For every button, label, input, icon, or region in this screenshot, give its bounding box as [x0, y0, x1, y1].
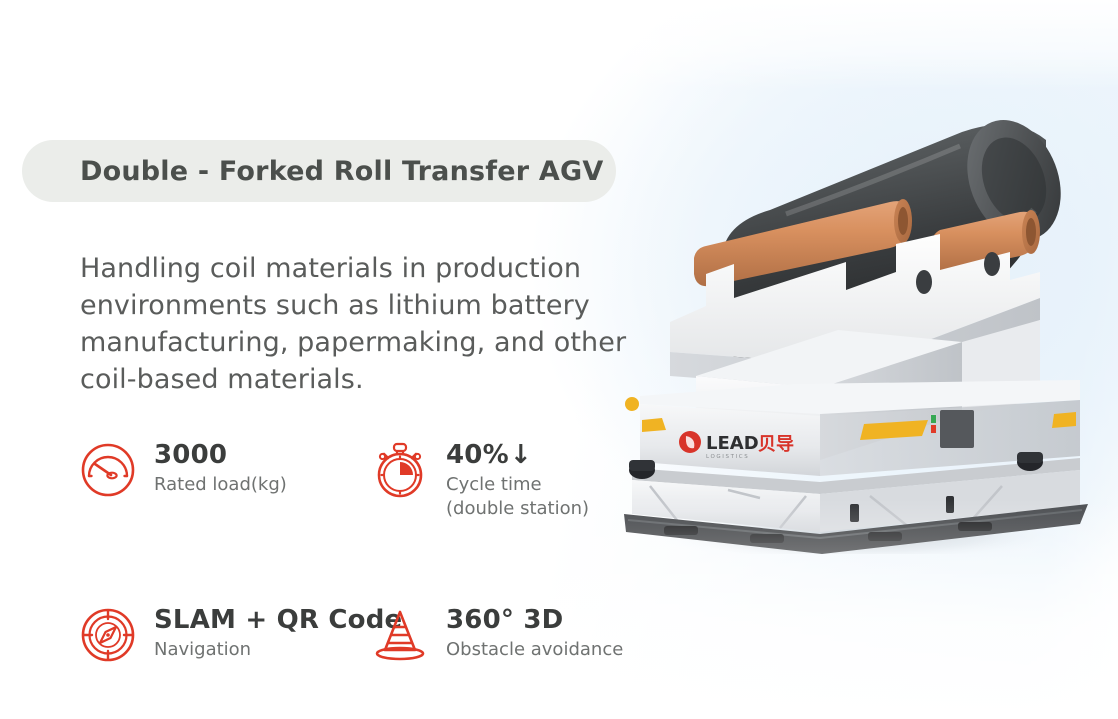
page-title: Double - Forked Roll Transfer AGV — [80, 156, 603, 187]
spec-row-2: SLAM + QR Code Navigation — [78, 603, 698, 665]
spec-item-cycle-time: 40% ↓ Cycle time (double station) — [370, 438, 670, 521]
spec-value: 3000 — [154, 440, 287, 470]
svg-text:贝导: 贝导 — [758, 434, 794, 455]
spec-item-rated-load: 3000 Rated load(kg) — [78, 438, 370, 521]
spec-item-navigation: SLAM + QR Code Navigation — [78, 603, 370, 665]
agv-body: LEAD 贝导 LOGISTICS — [640, 380, 1080, 476]
spec-value-text: 360° 3D — [446, 605, 563, 635]
spec-trend-arrow: ↓ — [510, 440, 532, 470]
stopwatch-icon — [370, 440, 430, 500]
spec-item-obstacle-avoidance: 360° 3D Obstacle avoidance — [370, 603, 670, 665]
spec-label: Navigation — [154, 638, 403, 662]
spec-label: Cycle time (double station) — [446, 473, 589, 521]
spec-value-text: SLAM + QR Code — [154, 605, 402, 635]
spec-text-rated-load: 3000 Rated load(kg) — [154, 438, 287, 497]
gauge-icon — [78, 440, 138, 500]
spec-label: Obstacle avoidance — [446, 638, 623, 662]
spec-text-obstacle-avoidance: 360° 3D Obstacle avoidance — [446, 603, 623, 662]
svg-text:LOGISTICS: LOGISTICS — [706, 454, 749, 460]
spec-text-navigation: SLAM + QR Code Navigation — [154, 603, 403, 662]
spec-label: Rated load(kg) — [154, 473, 287, 497]
page-description: Handling coil materials in production en… — [80, 250, 650, 398]
spec-value-text: 3000 — [154, 440, 227, 470]
spec-value: SLAM + QR Code — [154, 605, 403, 635]
svg-text:LEAD: LEAD — [706, 433, 759, 454]
spec-value: 360° 3D — [446, 605, 623, 635]
background-fade-top — [0, 0, 1118, 90]
title-pill: Double - Forked Roll Transfer AGV — [22, 140, 616, 202]
spec-list: 3000 Rated load(kg) — [78, 438, 698, 665]
spec-value-text: 40% — [446, 440, 509, 470]
compass-icon — [78, 605, 138, 665]
product-feature-slide: LEAD 贝导 LOGISTICS — [0, 0, 1118, 719]
spec-value: 40% ↓ — [446, 440, 589, 470]
spec-row-1: 3000 Rated load(kg) — [78, 438, 698, 521]
spec-text-cycle-time: 40% ↓ Cycle time (double station) — [446, 438, 589, 521]
traffic-cone-icon — [370, 605, 430, 665]
